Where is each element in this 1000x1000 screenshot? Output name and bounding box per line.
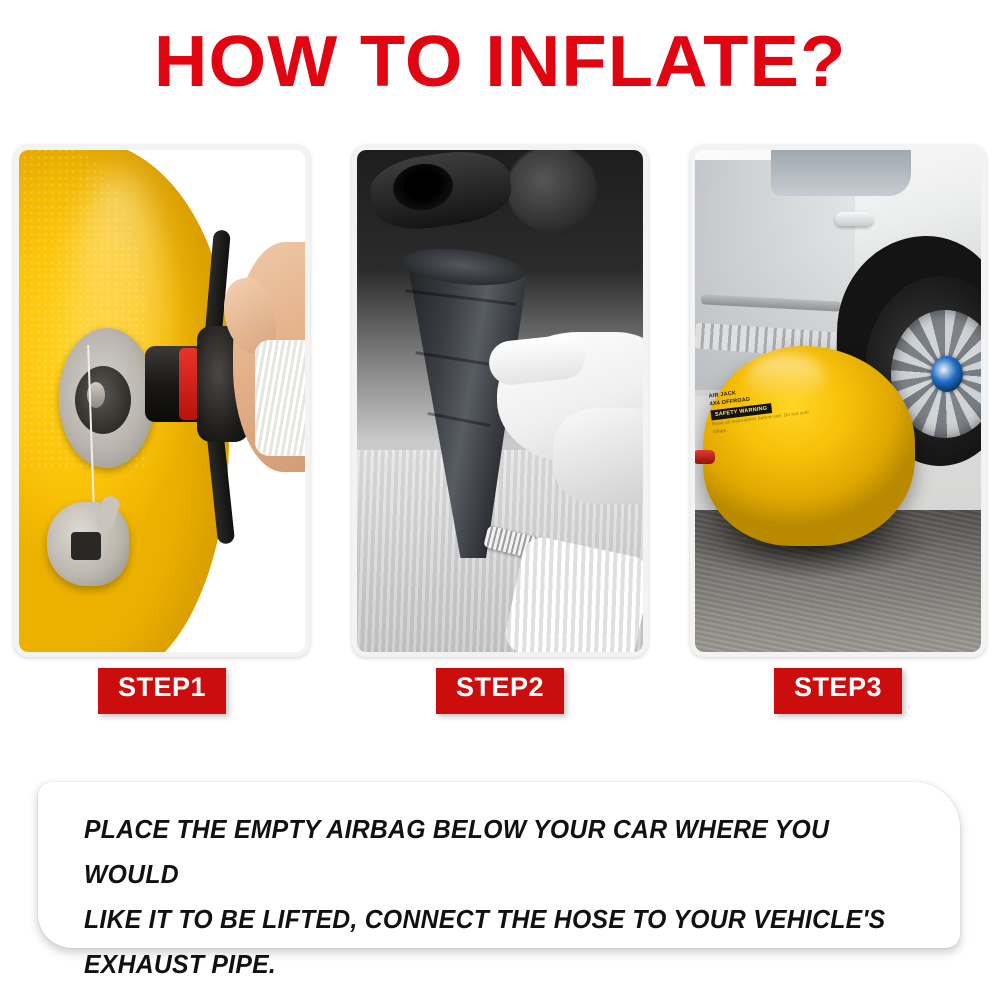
p2-secondary-pipe (507, 150, 597, 232)
p3-car-window (771, 150, 911, 196)
step-badge-cell-3: STEP3 (690, 668, 986, 714)
page-title: HOW TO INFLATE? (154, 26, 846, 98)
step-badge-cell-2: STEP2 (352, 668, 648, 714)
step-badge-2: STEP2 (436, 668, 564, 714)
p3-airbag-label: AIR JACK 4X4 OFFROAD SAFETY WARNING Read… (708, 380, 821, 476)
p1-valve-disc (59, 328, 155, 468)
step-image-panel-1 (14, 145, 310, 657)
p1-connector-red-ring (179, 348, 199, 420)
p3-wheel-hub-badge (931, 356, 963, 392)
p3-airbag-nozzle (695, 450, 715, 464)
step-image-panel-2 (352, 145, 648, 657)
step-badge-cell-1: STEP1 (14, 668, 310, 714)
p1-dust-cap (47, 502, 129, 586)
step-image-panel-3: AIR JACK 4X4 OFFROAD SAFETY WARNING Read… (690, 145, 986, 657)
step-image-row: AIR JACK 4X4 OFFROAD SAFETY WARNING Read… (14, 145, 986, 657)
instruction-line-1: PLACE THE EMPTY AIRBAG BELOW YOUR CAR WH… (84, 808, 905, 898)
instruction-line-3: EXHAUST PIPE. (84, 943, 905, 988)
p2-glove-palm (553, 408, 643, 504)
step-badge-3: STEP3 (774, 668, 902, 714)
step-badge-1: STEP1 (98, 668, 226, 714)
step-badge-row: STEP1 STEP2 STEP3 (14, 668, 986, 714)
p3-door-handle (835, 212, 873, 226)
p1-hose-sleeve (255, 340, 305, 456)
p1-dust-cap-slot (71, 532, 101, 560)
instruction-line-2: LIKE IT TO BE LIFTED, CONNECT THE HOSE T… (84, 898, 905, 943)
instruction-callout: PLACE THE EMPTY AIRBAG BELOW YOUR CAR WH… (38, 782, 960, 948)
page-title-container: HOW TO INFLATE? (0, 26, 1000, 98)
step3-photo: AIR JACK 4X4 OFFROAD SAFETY WARNING Read… (695, 150, 981, 652)
step1-photo (19, 150, 305, 652)
step2-photo (357, 150, 643, 652)
